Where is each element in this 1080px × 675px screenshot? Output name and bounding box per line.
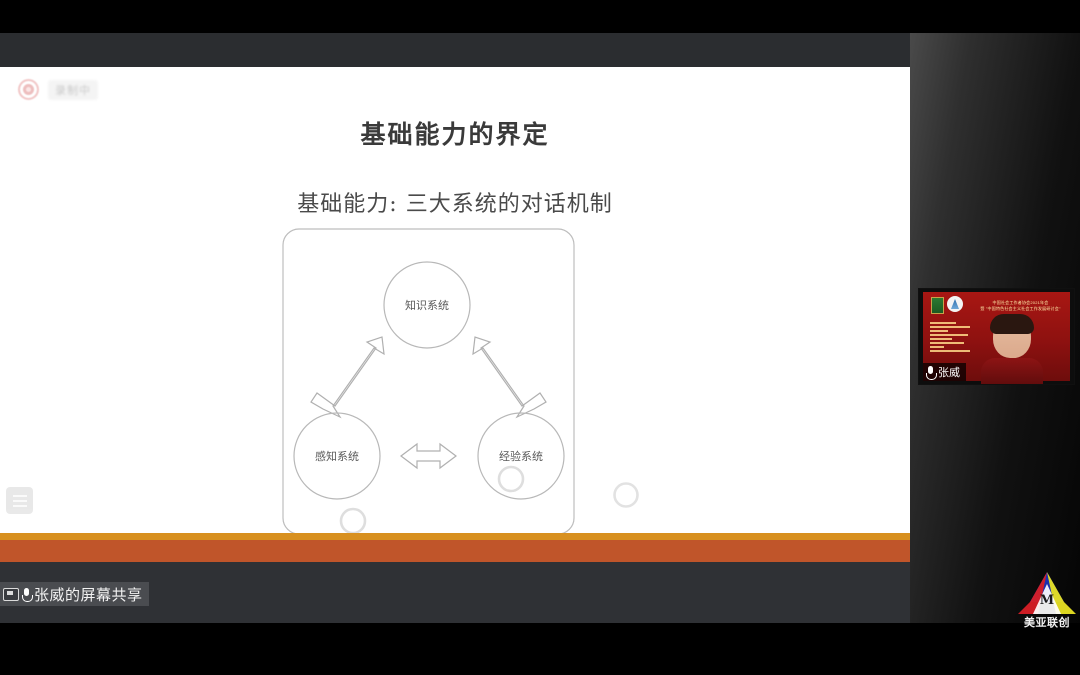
- shared-screen-slide: 录制中 基础能力的界定 基础能力: 三大系统的对话机制: [0, 67, 910, 562]
- participant-video-tile[interactable]: 中国社会工作者协会2021年会 暨 "中国特色社会主义社会工作发展研讨会" 张威: [918, 288, 1075, 385]
- annotation-circle-mark: [608, 477, 644, 513]
- slide-accent-gold-bar: [0, 533, 910, 540]
- hamburger-menu-icon[interactable]: [6, 487, 33, 514]
- three-systems-diagram: 知识系统 感知系统 经验系统: [281, 227, 576, 539]
- banner-line-2: 暨 "中国特色社会主义社会工作发展研讨会": [975, 306, 1066, 311]
- record-indicator-icon: [18, 79, 39, 100]
- annotation-circle-mark: [341, 509, 365, 533]
- page-subtitle: 基础能力: 三大系统的对话机制: [0, 186, 910, 218]
- microphone-icon: [22, 588, 31, 601]
- banner-line-1: 中国社会工作者协会2021年会: [975, 300, 1066, 305]
- conference-banner: 中国社会工作者协会2021年会 暨 "中国特色社会主义社会工作发展研讨会": [975, 295, 1066, 315]
- menu-line: [13, 500, 27, 502]
- menu-line: [13, 495, 27, 497]
- node-knowledge-label: 知识系统: [405, 298, 449, 312]
- connector-perception-knowledge: [311, 337, 384, 417]
- connector-knowledge-experience: [473, 337, 546, 417]
- participant-name-badge: 张威: [923, 363, 966, 381]
- page-title: 基础能力的界定: [0, 115, 910, 151]
- organization-logo-icon: [947, 296, 963, 312]
- logo-mark-letter: M: [1040, 593, 1054, 608]
- menu-line: [13, 505, 27, 507]
- microphone-icon: [926, 366, 935, 379]
- app-window: 录制中 基础能力的界定 基础能力: 三大系统的对话机制: [0, 0, 1080, 675]
- watermark-logo: M 美亚联创: [1016, 570, 1078, 632]
- meeting-toolbar[interactable]: [0, 33, 910, 67]
- node-experience-label: 经验系统: [499, 449, 543, 463]
- recording-indicator: 录制中: [18, 79, 98, 100]
- screen-share-status: 张威的屏幕共享: [0, 582, 149, 606]
- participant-name: 张威: [938, 364, 960, 380]
- annotation-circle-mark: [499, 467, 523, 491]
- backdrop-text-lines: [930, 322, 974, 354]
- diagram-container-box: [283, 229, 574, 534]
- connector-perception-experience: [401, 444, 456, 468]
- node-perception-label: 感知系统: [315, 449, 359, 463]
- triangle-logo-icon: M: [1016, 570, 1078, 616]
- slide-accent-orange-bar: [0, 540, 910, 562]
- participant-webcam-image: [979, 314, 1045, 384]
- screen-share-label: 张威的屏幕共享: [34, 584, 143, 605]
- watermark-text: 美亚联创: [1012, 614, 1080, 630]
- recording-label: 录制中: [48, 80, 98, 100]
- meeting-bottom-bar: 张威的屏幕共享: [0, 562, 910, 623]
- conference-emblem-icon: [931, 297, 944, 314]
- screen-share-icon: [3, 588, 19, 601]
